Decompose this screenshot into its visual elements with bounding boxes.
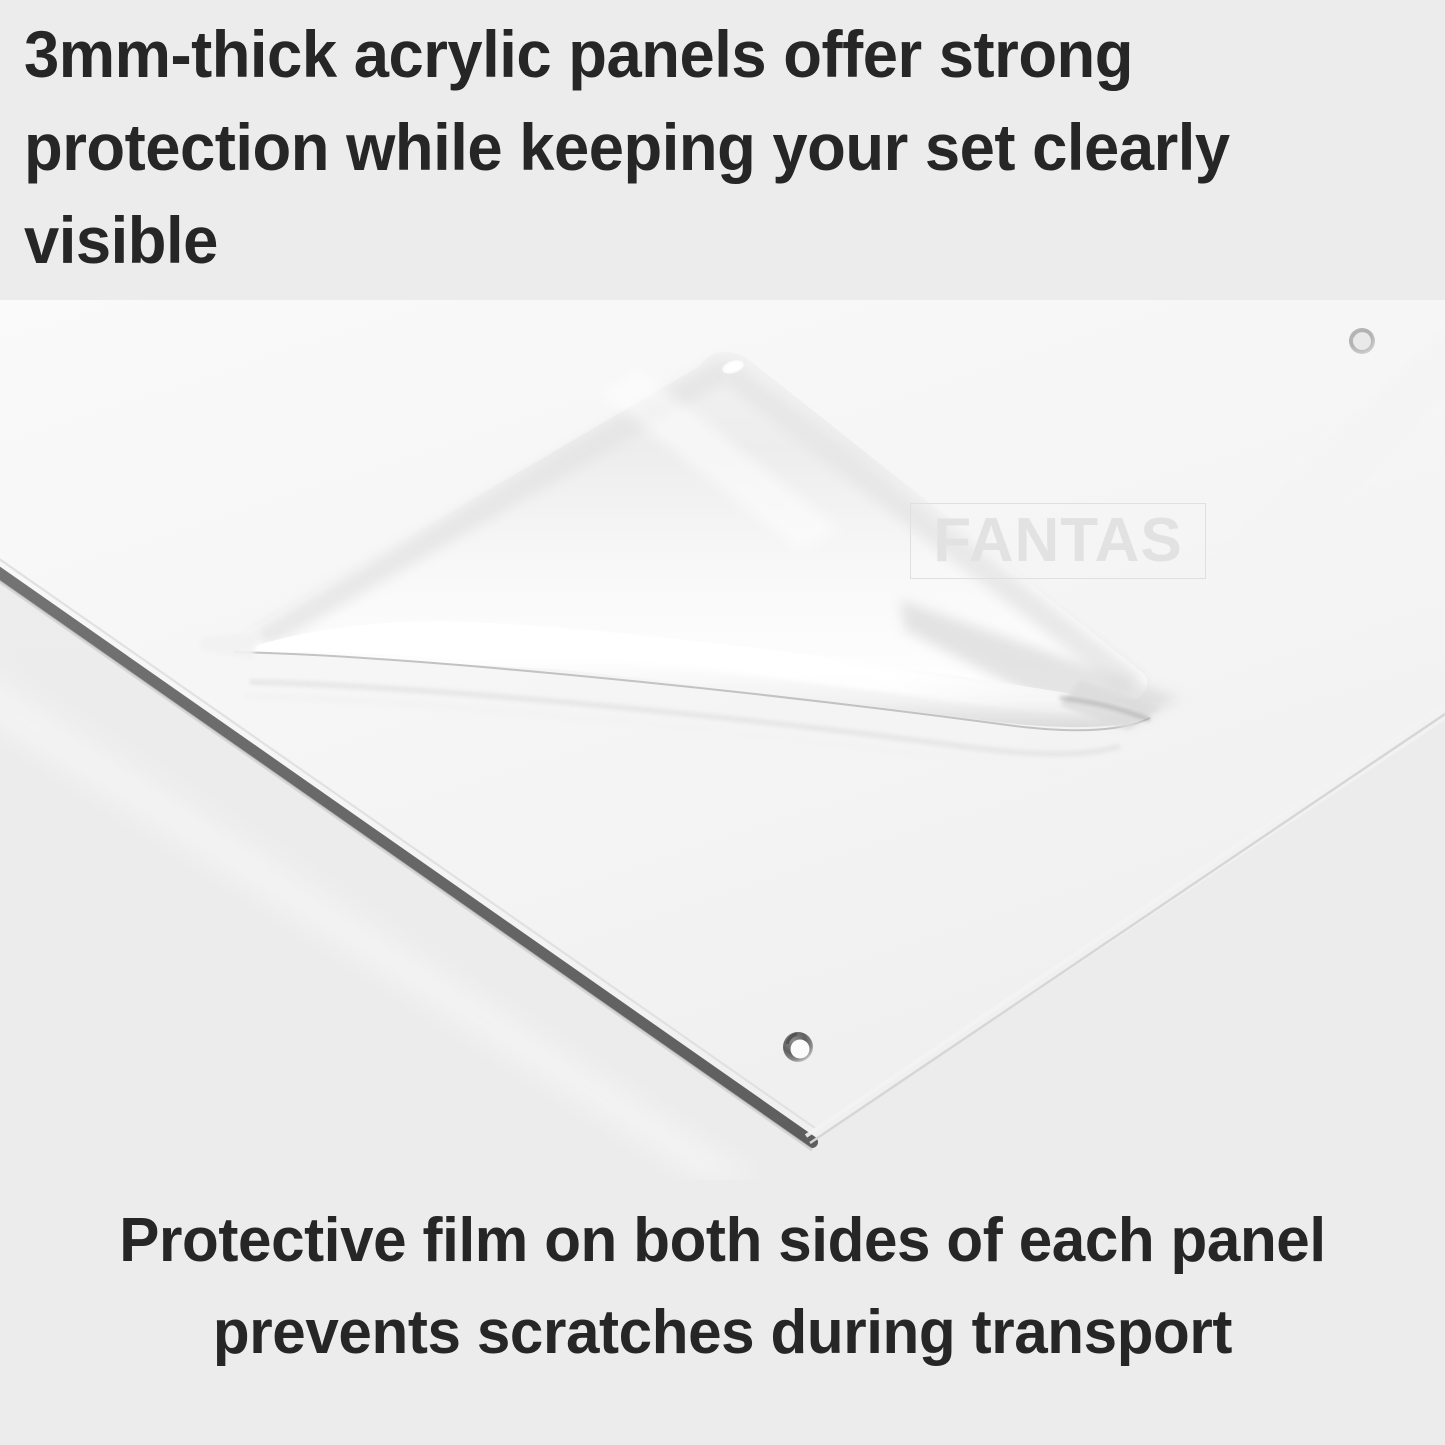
product-feature-card: 3mm-thick acrylic panels offer strong pr… xyxy=(0,0,1445,1445)
bottom-mounting-hole xyxy=(783,1032,813,1062)
top-right-mounting-hole xyxy=(1349,328,1375,354)
acrylic-panel-illustration xyxy=(0,300,1445,1180)
product-photo xyxy=(0,300,1445,1180)
top-caption-text: 3mm-thick acrylic panels offer strong pr… xyxy=(0,0,1387,300)
bottom-caption-text: Protective film on both sides of each pa… xyxy=(22,1195,1424,1445)
